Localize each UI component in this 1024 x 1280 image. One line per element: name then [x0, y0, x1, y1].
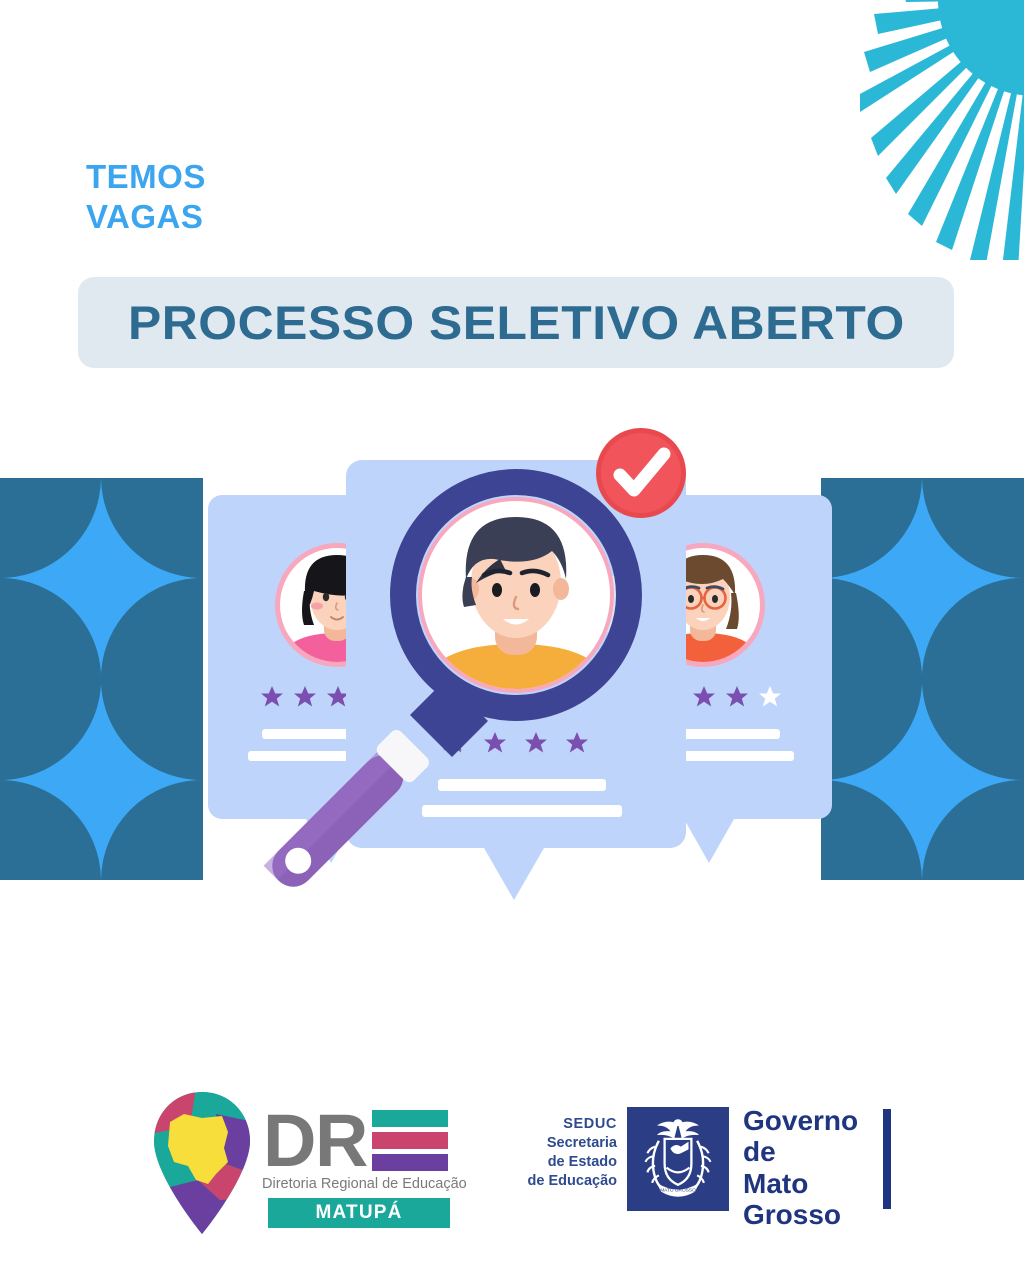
gov-title-line-1: Governo de	[743, 1105, 895, 1168]
dre-logo: D R Diretoria Regional de Educação MATUP…	[150, 1088, 460, 1238]
dre-subtitle: Diretoria Regional de Educação	[262, 1176, 467, 1192]
dre-city-label: MATUPÁ	[315, 1202, 402, 1224]
svg-text:MATO GROSSO: MATO GROSSO	[660, 1188, 696, 1194]
check-badge	[596, 428, 686, 518]
gov-title-block: Governo de Mato Grosso	[743, 1105, 895, 1230]
dre-letter-e-bars	[372, 1110, 448, 1171]
gov-accent-bar	[883, 1109, 891, 1209]
gov-title-line-3: Grosso	[743, 1199, 895, 1230]
seduc-line-4: de Educação	[505, 1172, 617, 1191]
petal-pattern-right	[821, 478, 1024, 880]
headline-text: PROCESSO SELETIVO ABERTO	[128, 295, 905, 350]
seduc-line-1: SEDUC	[505, 1115, 617, 1134]
poster-root: TEMOS VAGAS PROCESSO SELETIVO ABERTO	[0, 0, 1024, 1280]
coat-of-arms-icon: MATO GROSSO	[627, 1107, 729, 1211]
dre-city-badge: MATUPÁ	[268, 1198, 450, 1228]
governo-mato-grosso-logo: SEDUC Secretaria de Estado de Educação	[505, 1105, 895, 1223]
candidate-card-center	[346, 460, 686, 900]
illustration	[200, 405, 840, 965]
headline-banner: PROCESSO SELETIVO ABERTO	[78, 277, 954, 368]
sunburst-icon	[774, 0, 1024, 260]
kicker-line-2: VAGAS	[86, 197, 206, 237]
kicker-text: TEMOS VAGAS	[86, 157, 206, 238]
map-pin-icon	[150, 1088, 254, 1238]
petal-pattern-left	[0, 478, 203, 880]
gov-title-line-2: Mato	[743, 1168, 895, 1199]
footer-logos: D R Diretoria Regional de Educação MATUP…	[0, 1080, 1024, 1250]
dre-letter-r: R	[315, 1099, 368, 1182]
kicker-line-1: TEMOS	[86, 157, 206, 197]
dre-letter-d: D	[263, 1099, 316, 1182]
seduc-line-3: de Estado	[505, 1153, 617, 1172]
seduc-line-2: Secretaria	[505, 1134, 617, 1153]
seduc-text-block: SEDUC Secretaria de Estado de Educação	[505, 1115, 617, 1192]
